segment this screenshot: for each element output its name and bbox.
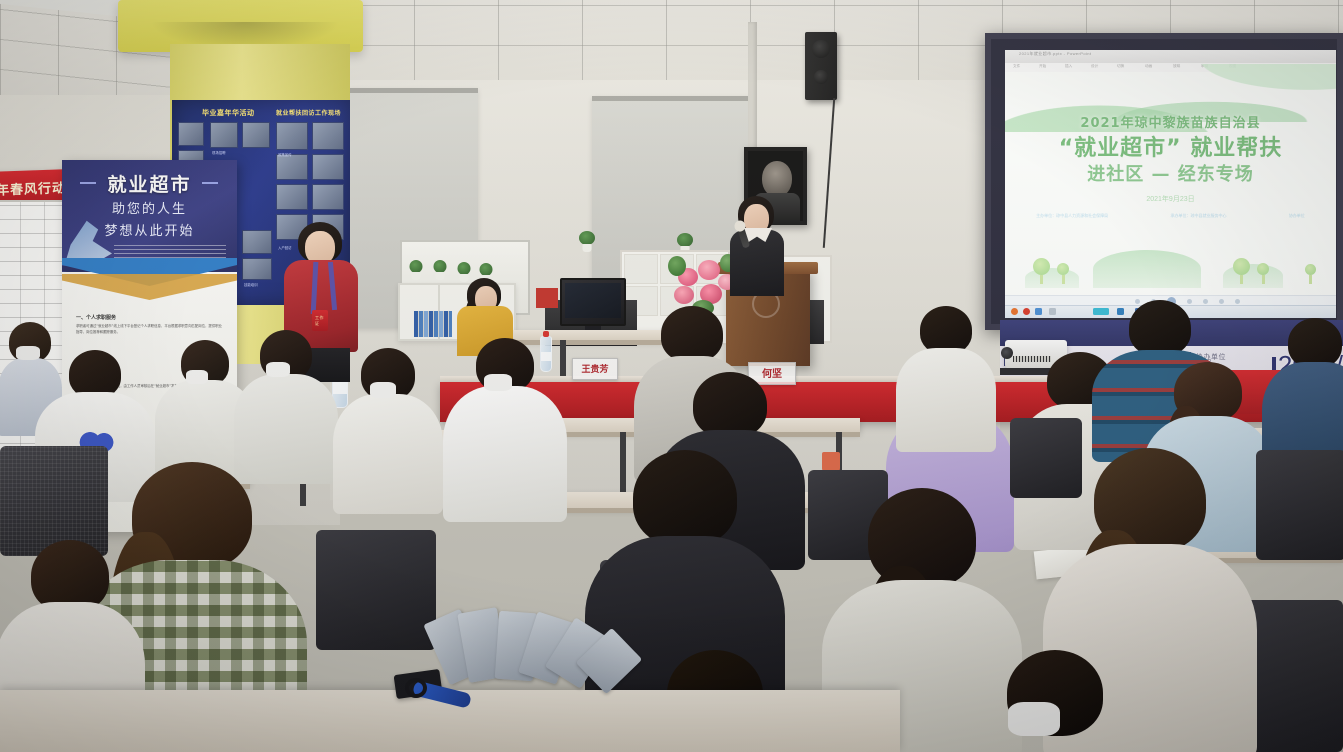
slide-landscape-graphic	[1005, 232, 1336, 288]
presentation-slide: 2021年就业超市.pptx - PowerPoint 文件 开始 插入 设计 …	[1005, 50, 1336, 318]
poster-photo-caption-1: 政策宣传	[278, 152, 292, 157]
staff-badge-text: 工作证	[315, 315, 328, 327]
potted-plant-2	[432, 256, 448, 280]
slide-subcaption-1: 承办单位：琼中县就业服务中心	[1170, 213, 1226, 219]
audience-person-5	[340, 348, 436, 498]
projection-screen: 2021年就业超市.pptx - PowerPoint 文件 开始 插入 设计 …	[985, 33, 1343, 330]
staff-badge: 工作证	[312, 310, 328, 331]
poster-photo-caption-0: 现场招聘	[212, 150, 226, 155]
slide-subcaptions: 主办单位：琼中县人力资源和社会保障局 承办单位：琼中县就业服务中心 协办单位	[1005, 213, 1336, 219]
slide-subcaption-0: 主办单位：琼中县人力资源和社会保障局	[1036, 213, 1108, 219]
blue-rollup-banner: 就业超市 助您的人生 梦想从此开始	[62, 160, 237, 272]
poster-photo-caption-3: 技能培训	[244, 282, 258, 287]
presenter-torso	[730, 230, 784, 296]
standee-heading-0: 一、个人求职服务	[76, 314, 116, 321]
powerpoint-window-title: 2021年就业超市.pptx - PowerPoint	[1019, 51, 1091, 57]
standee-gold-chevron	[62, 274, 237, 300]
poster-panel-heading-1: 就业帮扶回访工作现场	[276, 108, 341, 117]
blue-banner-line-1: 就业超市	[62, 170, 237, 197]
slide-title-line-1: 2021年琼中黎族苗族自治县	[1005, 112, 1336, 131]
audience-person-10	[900, 306, 992, 436]
potted-plant-1	[408, 258, 424, 280]
slide-date: 2021年9月23日	[1005, 194, 1336, 204]
nameplate-left-text: 王贵芳	[573, 359, 617, 381]
audience-person-bottom-right	[980, 650, 1130, 752]
conference-room-photo: 2021年就业超市.pptx - PowerPoint 文件 开始 插入 设计 …	[0, 0, 1343, 752]
slide-title-line-2: “就业超市” 就业帮扶	[1005, 130, 1336, 162]
potted-plant-5	[578, 228, 596, 252]
slide-title-line-3: 进社区 — 经东专场	[1005, 160, 1336, 186]
powerpoint-titlebar: 2021年就业超市.pptx - PowerPoint	[1005, 50, 1336, 64]
blue-banner-line-2: 助您的人生	[62, 198, 237, 217]
umbrella-strap	[405, 678, 427, 698]
presenter-at-podium	[726, 196, 786, 296]
slide-subcaption-2: 协办单位	[1289, 213, 1305, 219]
audience-person-14	[1270, 318, 1343, 468]
standee-body-0: 求职者可通过“就业超市”线上线下平台登记个人求职信息，平台根据求职意向匹配岗位，…	[76, 324, 222, 335]
audience-person-6	[450, 338, 560, 508]
folded-umbrella	[405, 610, 655, 702]
audience-person-4	[238, 330, 334, 470]
nameplate-left: 王贵芳	[572, 358, 618, 380]
red-storage-box	[536, 288, 558, 308]
wall-speaker	[805, 32, 837, 100]
office-chair-6[interactable]	[1256, 450, 1343, 560]
desktop-monitor	[560, 278, 626, 326]
poster-panel-heading-0: 毕业嘉年华活动	[202, 108, 255, 118]
